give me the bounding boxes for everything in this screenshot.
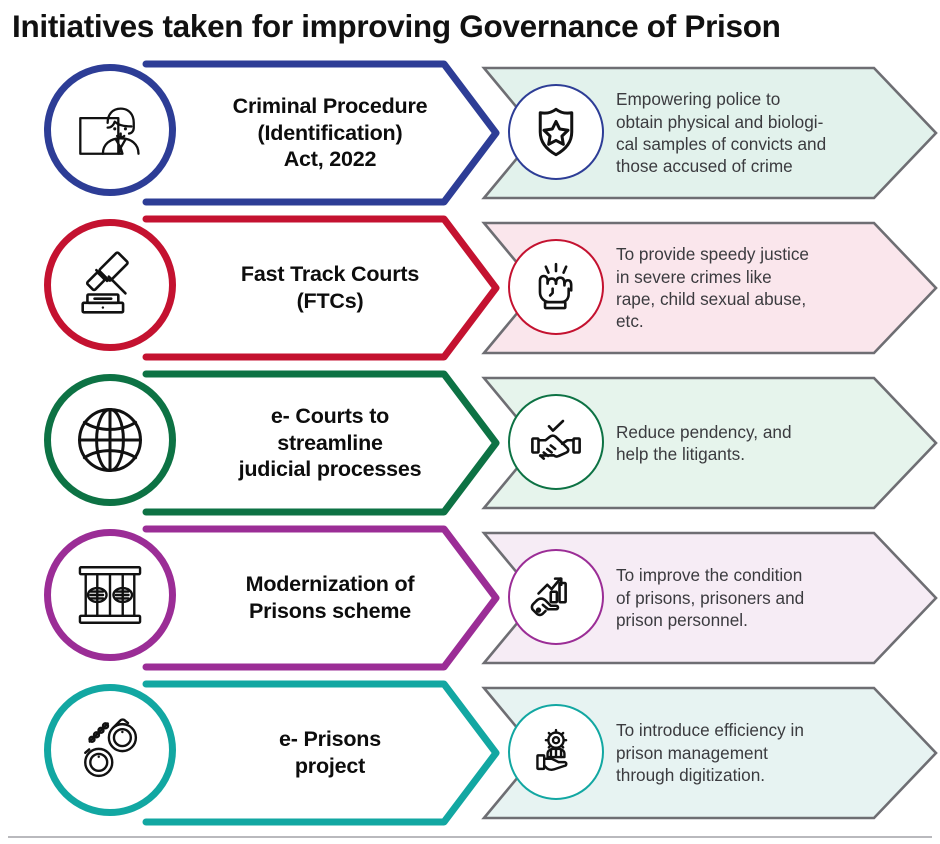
- initiative-description: To provide speedy justice in severe crim…: [616, 213, 878, 363]
- initiative-label: Modernization of Prisons scheme: [185, 523, 475, 673]
- id-portrait-icon: [72, 92, 148, 168]
- growth-chart-hand-icon: [528, 569, 584, 625]
- initiative-description: Reduce pendency, and help the litigants.: [616, 368, 878, 518]
- initiative-mini-circle: [508, 704, 604, 800]
- raised-fist-icon: [529, 260, 583, 314]
- bottom-divider: [8, 836, 932, 838]
- initiative-row: Fast Track Courts (FTCs) To provide spee…: [0, 213, 940, 363]
- initiative-label: e- Prisons project: [185, 678, 475, 828]
- initiative-row: Modernization of Prisons scheme To impro…: [0, 523, 940, 673]
- initiative-lead-circle: [44, 529, 176, 661]
- initiative-mini-circle: [508, 549, 604, 645]
- initiative-lead-circle: [44, 64, 176, 196]
- globe-icon: [71, 401, 149, 479]
- page-title: Initiatives taken for improving Governan…: [12, 2, 932, 50]
- initiative-label: Criminal Procedure (Identification) Act,…: [185, 58, 475, 208]
- infographic-root: Initiatives taken for improving Governan…: [0, 0, 940, 844]
- initiative-row: Criminal Procedure (Identification) Act,…: [0, 58, 940, 208]
- initiative-label: e- Courts to streamline judicial process…: [185, 368, 475, 518]
- initiative-lead-circle: [44, 374, 176, 506]
- prison-bars-icon: [73, 558, 147, 632]
- gavel-icon: [72, 247, 148, 323]
- handcuffs-icon: [74, 714, 146, 786]
- initiative-row: e- Prisons project To introduce efficien…: [0, 678, 940, 828]
- initiative-lead-circle: [44, 684, 176, 816]
- initiative-description: To improve the condition of prisons, pri…: [616, 523, 878, 673]
- initiative-mini-circle: [508, 84, 604, 180]
- initiative-mini-circle: [508, 394, 604, 490]
- handshake-check-icon: [528, 414, 584, 470]
- initiative-description: Empowering police to obtain physical and…: [616, 58, 878, 208]
- initiative-description: To introduce efficiency in prison manage…: [616, 678, 878, 828]
- initiative-lead-circle: [44, 219, 176, 351]
- police-badge-icon: [528, 104, 584, 160]
- gear-in-hand-icon: [529, 725, 583, 779]
- initiative-row: e- Courts to streamline judicial process…: [0, 368, 940, 518]
- initiative-mini-circle: [508, 239, 604, 335]
- initiative-label: Fast Track Courts (FTCs): [185, 213, 475, 363]
